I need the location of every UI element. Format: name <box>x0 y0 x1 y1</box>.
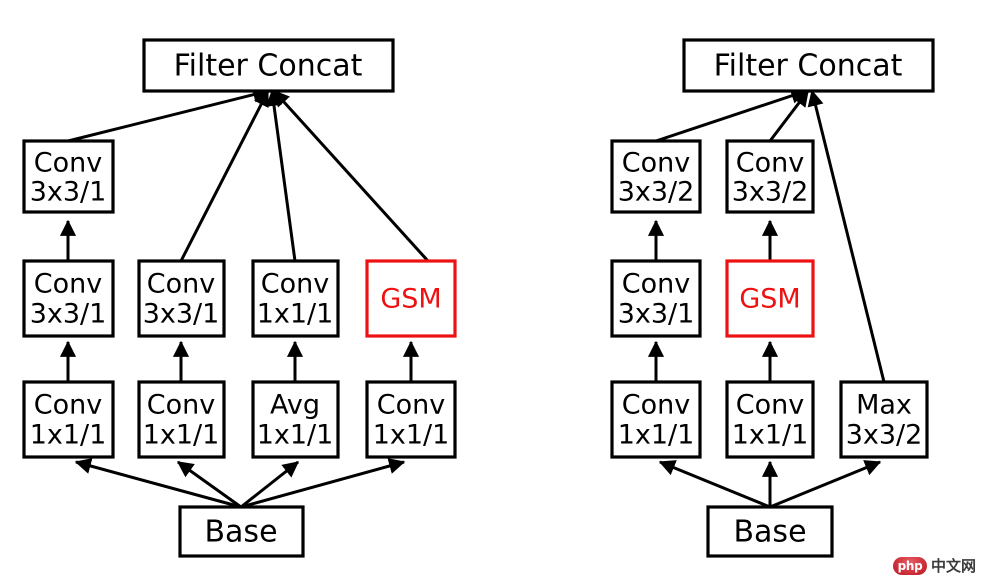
left-base-label: Base <box>204 515 277 550</box>
node-r2-top: Conv 3x3/2 <box>727 141 813 212</box>
node-line2: 1x1/1 <box>618 420 695 451</box>
diagram-canvas: Filter Concat Conv 3x3/1 Conv 3x3/1 Conv… <box>0 0 984 582</box>
node-r2-gsm: GSM <box>727 261 813 336</box>
left-filter-concat-label: Filter Concat <box>174 49 363 84</box>
watermark: php 中文网 <box>893 554 981 577</box>
node-l4-gsm: GSM <box>367 261 455 336</box>
edge-base-to-l2-bottom <box>178 462 241 507</box>
right-filter-concat-label: Filter Concat <box>714 49 903 84</box>
node-line1: Conv <box>622 148 690 179</box>
watermark-text: 中文网 <box>931 557 976 575</box>
node-r2-bottom: Conv 1x1/1 <box>727 382 813 457</box>
node-line2: 3x3/1 <box>143 299 220 330</box>
node-l4-bottom: Conv 1x1/1 <box>367 382 455 457</box>
edge-base-to-r1-bottom <box>660 462 770 507</box>
node-l1-top: Conv 3x3/1 <box>24 141 113 212</box>
left-base-node: Base <box>180 507 303 556</box>
node-line1: Conv <box>147 390 215 421</box>
node-line2: 1x1/1 <box>257 299 334 330</box>
right-base-label: Base <box>733 515 806 550</box>
node-line1: Conv <box>622 269 690 300</box>
node-line1: Conv <box>34 148 102 179</box>
left-concat-edges <box>68 91 428 261</box>
node-l2-bottom: Conv 1x1/1 <box>139 382 224 457</box>
left-filter-concat-node: Filter Concat <box>144 40 393 91</box>
right-filter-concat-node: Filter Concat <box>684 40 933 91</box>
edge-r1-top-to-concat <box>656 91 806 141</box>
node-l2-mid: Conv 3x3/1 <box>139 261 224 336</box>
edge-l2-mid-to-concat <box>181 91 268 261</box>
node-line1: Max <box>856 390 912 421</box>
node-line1: Conv <box>736 390 804 421</box>
right-base-edges <box>660 462 880 507</box>
node-line1: Conv <box>34 390 102 421</box>
edge-base-to-l1-bottom <box>76 462 241 507</box>
node-line1: Conv <box>261 269 329 300</box>
panel-left: Filter Concat Conv 3x3/1 Conv 3x3/1 Conv… <box>24 40 455 556</box>
node-l1-mid: Conv 3x3/1 <box>24 261 113 336</box>
edge-l1-top-to-concat <box>68 91 268 141</box>
node-line1: Avg <box>270 390 320 421</box>
node-line2: 3x3/2 <box>732 177 809 208</box>
left-base-edges <box>76 462 404 507</box>
edge-max-to-concat <box>812 91 884 382</box>
edge-base-to-r3-max <box>770 462 880 507</box>
node-r1-top: Conv 3x3/2 <box>612 141 700 212</box>
edge-base-to-l4-bottom <box>241 462 404 507</box>
node-l1-bottom: Conv 1x1/1 <box>24 382 113 457</box>
panel-right: Filter Concat Conv 3x3/2 Conv 3x3/2 Conv… <box>612 40 933 556</box>
node-line1: Conv <box>147 269 215 300</box>
node-line2: 3x3/1 <box>618 299 695 330</box>
node-line1: GSM <box>380 284 441 315</box>
node-line1: Conv <box>736 148 804 179</box>
node-line2: 1x1/1 <box>373 420 450 451</box>
node-l3-mid: Conv 1x1/1 <box>253 261 338 336</box>
node-line2: 3x3/2 <box>618 177 695 208</box>
node-line2: 3x3/2 <box>846 420 923 451</box>
edge-r2-top-to-concat <box>770 91 808 141</box>
node-line2: 1x1/1 <box>732 420 809 451</box>
node-line1: Conv <box>34 269 102 300</box>
node-line1: GSM <box>739 284 800 315</box>
node-line2: 1x1/1 <box>257 420 334 451</box>
node-line1: Conv <box>377 390 445 421</box>
left-vertical-edges <box>68 221 411 382</box>
edge-gsm-to-concat <box>274 91 428 261</box>
node-line1: Conv <box>622 390 690 421</box>
node-l3-bottom: Avg 1x1/1 <box>253 382 338 457</box>
node-line2: 3x3/1 <box>30 299 107 330</box>
node-line2: 1x1/1 <box>143 420 220 451</box>
network-architecture-diagram: Filter Concat Conv 3x3/1 Conv 3x3/1 Conv… <box>0 0 984 582</box>
node-r1-bottom: Conv 1x1/1 <box>612 382 700 457</box>
node-r3-max: Max 3x3/2 <box>841 382 927 457</box>
node-line2: 1x1/1 <box>30 420 107 451</box>
node-line2: 3x3/1 <box>30 177 107 208</box>
php-logo-icon: php <box>893 557 927 575</box>
node-r1-mid: Conv 3x3/1 <box>612 261 700 336</box>
edge-l3-mid-to-concat <box>272 91 295 261</box>
right-base-node: Base <box>708 507 832 556</box>
